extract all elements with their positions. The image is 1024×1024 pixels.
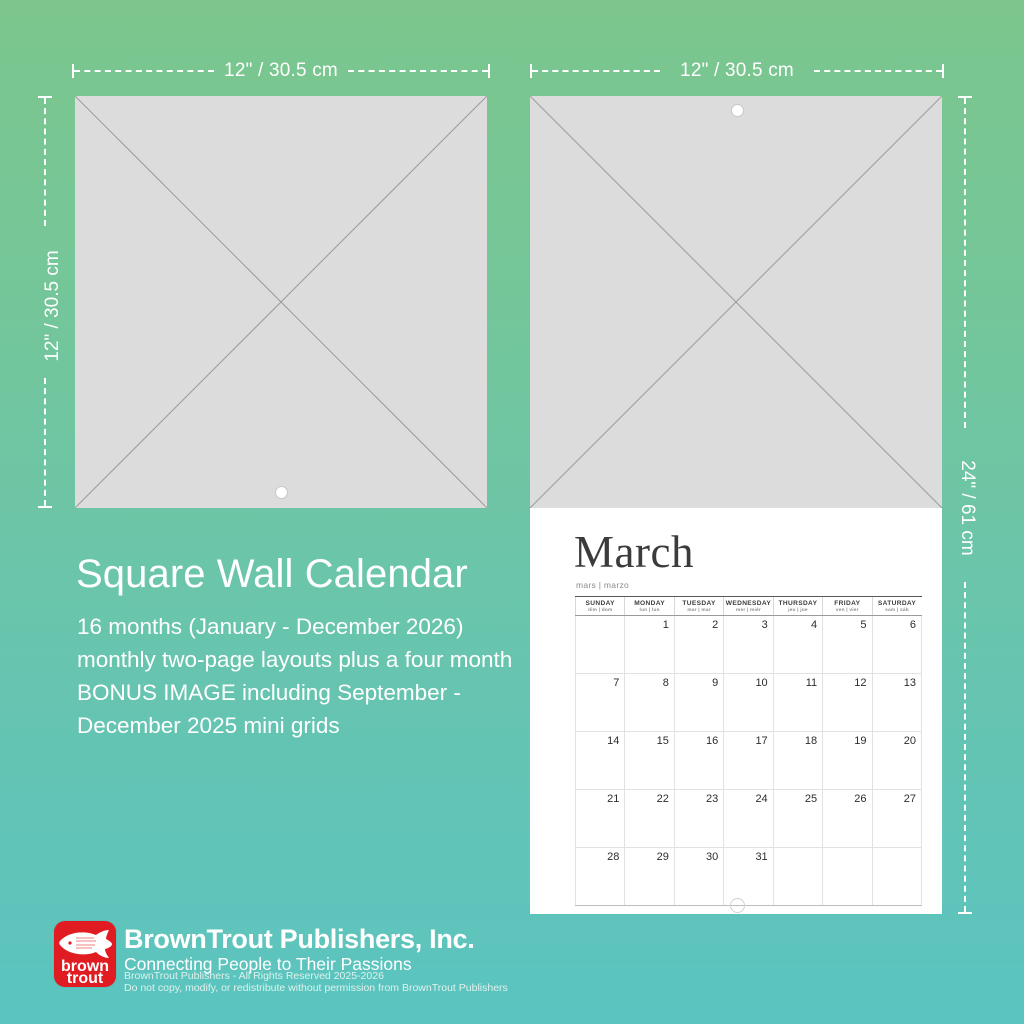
calendar-day-cell: 23 [674, 790, 723, 848]
dimension-cap-bottom [958, 912, 972, 914]
calendar-day-cell [872, 848, 921, 906]
calendar-day-header: MONDAY lun | lun [625, 597, 674, 616]
calendar-day-header: SUNDAY dim | dom [576, 597, 625, 616]
calendar-day-header: FRIDAY ven | vier [823, 597, 872, 616]
calendar-day-cell: 5 [823, 616, 872, 674]
calendar-day-cell: 10 [724, 674, 773, 732]
dimension-dash-bottom [964, 582, 966, 912]
calendar-day-name-alt: sam | sáb [873, 608, 922, 613]
calendar-day-name-alt: lun | lun [625, 608, 673, 613]
brand-name: BrownTrout Publishers, Inc. [124, 924, 474, 955]
calendar-day-cell: 18 [773, 732, 822, 790]
calendar-month-title: March [574, 530, 694, 575]
calendar-front-preview-panel [75, 96, 487, 508]
calendar-day-cell: 21 [576, 790, 625, 848]
calendar-day-name: SUNDAY [576, 600, 624, 607]
calendar-day-name-alt: jeu | jue [774, 608, 822, 613]
calendar-image-panel [530, 96, 942, 508]
calendar-day-cell: 25 [773, 790, 822, 848]
svg-text:trout: trout [67, 970, 104, 987]
page-title: Square Wall Calendar [76, 552, 468, 597]
calendar-day-cell: 19 [823, 732, 872, 790]
calendar-day-cell: 24 [724, 790, 773, 848]
hanging-hole-punch [275, 486, 288, 499]
calendar-day-cell [823, 848, 872, 906]
calendar-week-row: 7 8 9 10 11 12 13 [576, 674, 922, 732]
calendar-day-cell: 6 [872, 616, 921, 674]
calendar-day-cell: 28 [576, 848, 625, 906]
placeholder-cross [530, 96, 942, 508]
calendar-day-name: WEDNESDAY [724, 600, 772, 607]
calendar-day-cell [773, 848, 822, 906]
calendar-week-row: 28 29 30 31 [576, 848, 922, 906]
calendar-header-row: SUNDAY dim | dom MONDAY lun | lun TUESDA… [576, 597, 922, 616]
calendar-day-cell: 14 [576, 732, 625, 790]
calendar-day-cell: 1 [625, 616, 674, 674]
calendar-grid-page: March mars | marzo SUNDAY dim | dom MOND… [530, 508, 942, 914]
calendar-day-cell: 15 [625, 732, 674, 790]
calendar-day-cell: 20 [872, 732, 921, 790]
calendar-day-cell: 12 [823, 674, 872, 732]
calendar-day-name: SATURDAY [873, 600, 922, 607]
dimension-label-top-left: 12" / 30.5 cm [72, 60, 490, 82]
calendar-day-header: TUESDAY mar | mar [674, 597, 723, 616]
product-description: 16 months (January - December 2026) mont… [77, 610, 547, 742]
calendar-day-cell: 30 [674, 848, 723, 906]
calendar-day-cell: 3 [724, 616, 773, 674]
calendar-month-subtitle: mars | marzo [576, 580, 629, 590]
calendar-day-cell [576, 616, 625, 674]
calendar-day-cell: 26 [823, 790, 872, 848]
calendar-day-cell: 13 [872, 674, 921, 732]
calendar-day-cell: 2 [674, 616, 723, 674]
calendar-day-cell: 17 [724, 732, 773, 790]
dimension-label-right: 24" / 61 cm [956, 413, 978, 603]
calendar-day-header: THURSDAY jeu | jue [773, 597, 822, 616]
calendar-day-name: MONDAY [625, 600, 673, 607]
hanging-hole-punch [731, 104, 744, 117]
dimension-cap-bottom [38, 506, 52, 508]
calendar-day-name-alt: dim | dom [576, 608, 624, 613]
dimension-label-top-right: 12" / 30.5 cm [530, 60, 944, 82]
calendar-day-cell: 8 [625, 674, 674, 732]
product-infographic: 12" / 30.5 cm 12" / 30.5 cm 12" / 30.5 c… [0, 0, 1024, 1024]
copyright-line-2: Do not copy, modify, or redistribute wit… [124, 982, 508, 996]
calendar-day-cell: 9 [674, 674, 723, 732]
hanging-hole-punch [730, 898, 745, 913]
calendar-day-name: THURSDAY [774, 600, 822, 607]
calendar-week-row: 1 2 3 4 5 6 [576, 616, 922, 674]
dimension-dash-top [44, 98, 46, 226]
calendar-day-name-alt: ven | vier [823, 608, 871, 613]
calendar-table: SUNDAY dim | dom MONDAY lun | lun TUESDA… [575, 596, 922, 906]
calendar-day-name-alt: mar | mar [675, 608, 723, 613]
calendar-day-cell: 16 [674, 732, 723, 790]
calendar-day-name: FRIDAY [823, 600, 871, 607]
calendar-day-header: SATURDAY sam | sáb [872, 597, 921, 616]
calendar-day-cell: 4 [773, 616, 822, 674]
trout-fish-icon: brown trout [54, 921, 116, 987]
calendar-day-cell: 31 [724, 848, 773, 906]
calendar-day-cell: 7 [576, 674, 625, 732]
calendar-week-row: 21 22 23 24 25 26 27 [576, 790, 922, 848]
calendar-week-row: 14 15 16 17 18 19 20 [576, 732, 922, 790]
calendar-day-name: TUESDAY [675, 600, 723, 607]
placeholder-cross [75, 96, 487, 508]
browntrout-logo: brown trout [54, 921, 116, 987]
dimension-label-left: 12" / 30.5 cm [42, 211, 64, 401]
calendar-day-name-alt: mer | miér [724, 608, 772, 613]
calendar-day-cell: 22 [625, 790, 674, 848]
calendar-day-cell: 29 [625, 848, 674, 906]
calendar-day-header: WEDNESDAY mer | miér [724, 597, 773, 616]
dimension-dash-top [964, 98, 966, 428]
calendar-day-cell: 11 [773, 674, 822, 732]
calendar-day-cell: 27 [872, 790, 921, 848]
